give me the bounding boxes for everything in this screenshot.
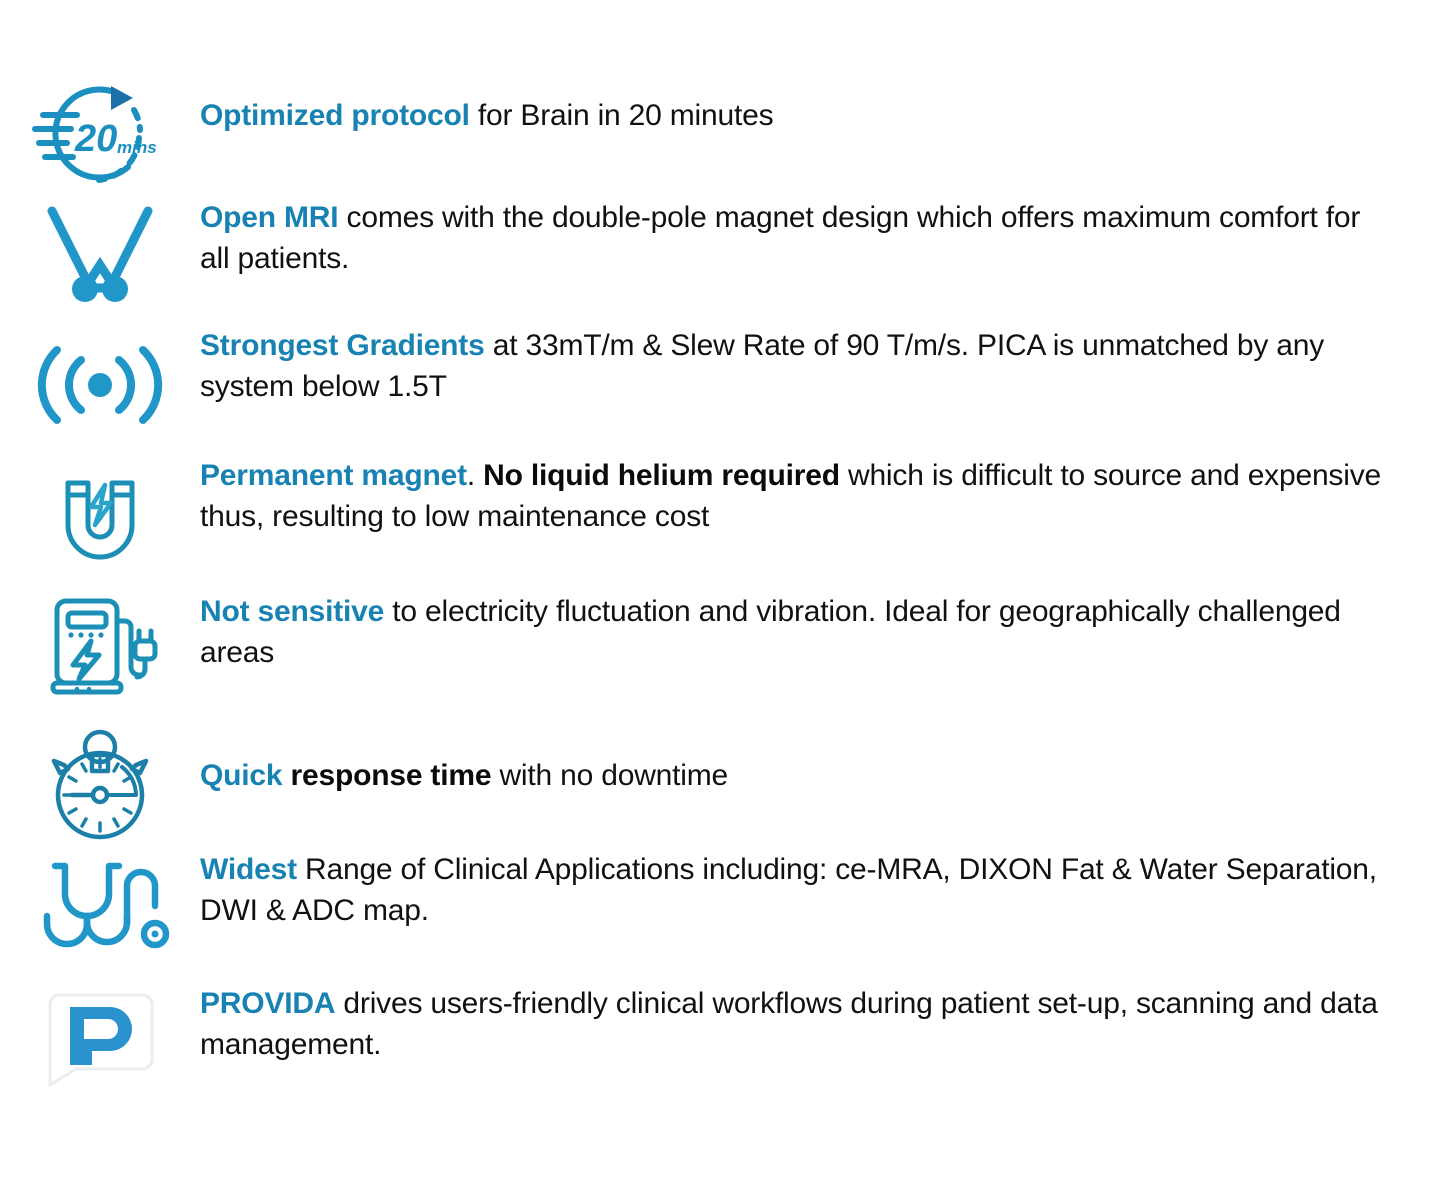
feature-body: with no downtime: [491, 759, 728, 792]
feature-highlight: PROVIDA: [200, 987, 335, 1020]
timer-minutes-unit: mins: [117, 138, 157, 157]
horseshoe-magnet-icon: [30, 450, 170, 580]
provida-logo-icon: [30, 974, 170, 1104]
feature-text-cell: Permanent magnet. No liquid helium requi…: [200, 450, 1434, 538]
feature-highlight: Strongest Gradients: [200, 329, 485, 362]
feature-highlight: Quick: [200, 759, 282, 792]
feature-text: Permanent magnet. No liquid helium requi…: [200, 456, 1394, 538]
stopwatch-icon: [30, 712, 170, 842]
feature-text-cell: Not sensitive to electricity fluctuation…: [200, 582, 1434, 674]
feature-text: Strongest Gradients at 33mT/m & Slew Rat…: [200, 326, 1394, 408]
feature-body: for Brain in 20 minutes: [470, 99, 774, 132]
feature-highlight: Permanent magnet: [200, 459, 467, 492]
feature-icon-cell: 20 mins: [0, 78, 200, 208]
feature-body: comes with the double-pole magnet design…: [200, 201, 1360, 275]
open-mri-magnet-icon: [30, 190, 170, 320]
feature-body: Range of Clinical Applications including…: [200, 853, 1377, 927]
feature-icon-cell: [0, 320, 200, 450]
feature-icon-cell: [0, 190, 200, 320]
feature-icon-cell: [0, 974, 200, 1104]
feature-text-cell: Quick response time with no downtime: [200, 712, 1434, 797]
feature-text: Widest Range of Clinical Applications in…: [200, 850, 1394, 932]
charging-station-icon: [30, 582, 170, 712]
feature-highlight: Open MRI: [200, 201, 338, 234]
feature-icon-cell: [0, 450, 200, 580]
feature-row: Quick response time with no downtime: [0, 712, 1434, 830]
feature-text-cell: PROVIDA drives users-friendly clinical w…: [200, 974, 1434, 1066]
feature-text-cell: Open MRI comes with the double-pole magn…: [200, 190, 1434, 280]
twenty-minutes-timer-icon: 20 mins: [30, 78, 170, 208]
feature-row: Strongest Gradients at 33mT/m & Slew Rat…: [0, 320, 1434, 432]
timer-minutes-value: 20: [74, 118, 117, 160]
feature-row: Not sensitive to electricity fluctuation…: [0, 582, 1434, 694]
feature-text: Open MRI comes with the double-pole magn…: [200, 198, 1394, 280]
feature-row: PROVIDA drives users-friendly clinical w…: [0, 974, 1434, 1086]
gradient-signal-waves-icon: [30, 320, 170, 450]
feature-text-cell: Strongest Gradients at 33mT/m & Slew Rat…: [200, 320, 1434, 408]
feature-list: 20 mins Optimized protocol for Brain in …: [0, 0, 1434, 1086]
feature-subhighlight: response time: [282, 759, 491, 792]
feature-row: 20 mins Optimized protocol for Brain in …: [0, 78, 1434, 178]
feature-text: PROVIDA drives users-friendly clinical w…: [200, 984, 1394, 1066]
stethoscope-icon: [30, 840, 170, 970]
feature-text: Optimized protocol for Brain in 20 minut…: [200, 96, 1394, 137]
feature-icon-cell: [0, 712, 200, 842]
feature-row: Widest Range of Clinical Applications in…: [0, 840, 1434, 952]
feature-icon-cell: [0, 582, 200, 712]
feature-text: Quick response time with no downtime: [200, 756, 1394, 797]
feature-separator: .: [467, 459, 483, 492]
feature-body: drives users-friendly clinical workflows…: [200, 987, 1378, 1061]
feature-row: Open MRI comes with the double-pole magn…: [0, 190, 1434, 302]
feature-highlight: Optimized protocol: [200, 99, 470, 132]
feature-text: Not sensitive to electricity fluctuation…: [200, 592, 1394, 674]
feature-highlight: Widest: [200, 853, 297, 886]
feature-text-cell: Optimized protocol for Brain in 20 minut…: [200, 78, 1434, 137]
feature-highlight: Not sensitive: [200, 595, 384, 628]
feature-subhighlight: No liquid helium required: [483, 459, 840, 492]
feature-row: Permanent magnet. No liquid helium requi…: [0, 450, 1434, 562]
feature-text-cell: Widest Range of Clinical Applications in…: [200, 840, 1434, 932]
feature-icon-cell: [0, 840, 200, 970]
